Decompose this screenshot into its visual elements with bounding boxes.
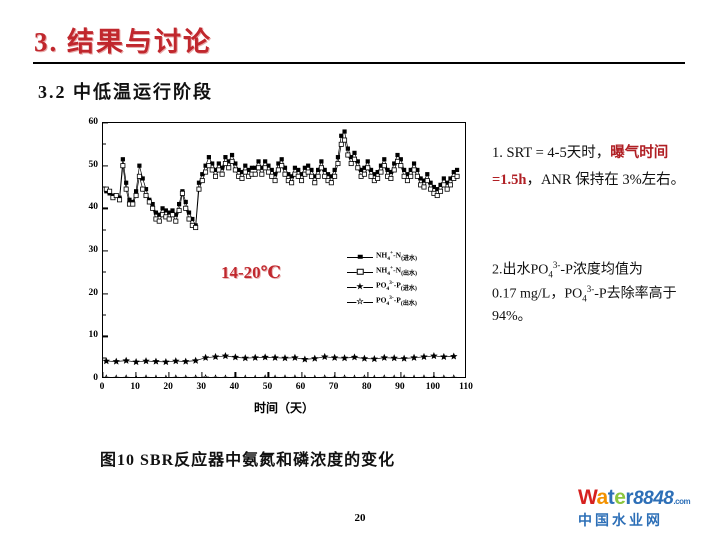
legend-item: ☆ PO43--P(出水) [347,294,459,309]
open-star-icon: ☆ [347,297,373,307]
note-2: 2.出水PO43--P浓度均值为0.17 mg/L，PO43--P去除率高于94… [492,258,707,328]
legend-item: ★ PO43--P(进水) [347,279,459,294]
chart-temperature-annotation: 14-20℃ [221,263,281,283]
y-tick-mark-minor [103,229,106,230]
y-tick-mark-minor [103,272,106,273]
y-tick-label: 0 [93,373,98,383]
x-tick-label: 30 [197,382,207,392]
y-tick-label: 10 [89,330,99,340]
x-tick-mark [367,372,368,377]
y-tick-mark [103,293,108,294]
y-tick-label: 50 [89,160,99,170]
x-tick-mark [433,372,434,377]
y-tick-label: 40 [89,202,99,212]
x-tick-mark [202,372,203,377]
chart-legend: NH4+-N(进水) NH4+-N(出水) ★ PO43--P(进水) [347,249,459,309]
x-tick-label: 80 [362,382,372,392]
x-tick-label: 40 [230,382,240,392]
x-tick-label: 10 [130,382,140,392]
y-tick-mark [103,165,108,166]
y-tick-mark-minor [103,144,106,145]
filled-star-icon: ★ [347,282,373,292]
legend-label: PO43--P(出水) [376,296,417,308]
x-tick-mark [169,372,170,377]
x-tick-label: 20 [163,382,173,392]
y-tick-label: 20 [89,288,99,298]
legend-label: PO43--P(进水) [376,281,417,293]
filled-square-icon [347,252,373,262]
logo-chinese-name: 中国水业网 [578,513,708,530]
note-1-part-b: ，ANR 保持在 3%左右。 [526,172,685,188]
site-logo: Water8848.com 中国水业网 [578,487,708,530]
chart-plot-area: 14-20℃ NH4+-N(进水) NH4+-N(出水) ★ [102,122,466,378]
x-tick-mark [235,372,236,377]
y-tick-mark [103,208,108,209]
x-tick-label: 100 [426,382,440,392]
open-square-icon [347,267,373,277]
x-tick-mark [102,372,103,377]
legend-item: NH4+-N(进水) [347,249,459,264]
x-tick-label: 70 [329,382,339,392]
section-subtitle: 3.2 中低温运行阶段 [38,78,213,104]
x-tick-mark [135,372,136,377]
x-tick-mark [301,372,302,377]
legend-label: NH4+-N(出水) [376,266,417,278]
x-tick-mark [400,372,401,377]
x-tick-label: 90 [395,382,405,392]
y-tick-mark [103,336,108,337]
y-tick-label: 30 [89,245,99,255]
title-divider [33,62,685,64]
y-tick-mark [103,250,108,251]
logo-wordmark: Water8848.com [578,487,708,513]
note-1-part-a: 1. SRT = 4-5天时， [492,145,610,161]
x-tick-mark [268,372,269,377]
chart-x-axis-label: 时间（天） [102,399,466,416]
x-tick-label: 0 [100,382,105,392]
x-tick-mark [334,372,335,377]
legend-label: NH4+-N(进水) [376,251,417,263]
page-title: 3. 结果与讨论 [34,20,212,59]
figure-caption: 图10 SBR反应器中氨氮和磷浓度的变化 [100,446,500,470]
x-tick-label: 110 [459,382,473,392]
y-tick-mark-minor [103,315,106,316]
slide: 3. 结果与讨论 3.2 中低温运行阶段 氮素浓度(mg·L⁻¹) 14-20℃… [0,0,720,540]
x-tick-label: 60 [296,382,306,392]
legend-item: NH4+-N(出水) [347,264,459,279]
chart-figure: 氮素浓度(mg·L⁻¹) 14-20℃ NH4+-N(进水) NH4+-N(出水… [76,118,466,418]
y-tick-label: 60 [89,117,99,127]
x-tick-label: 50 [263,382,273,392]
y-tick-mark-minor [103,357,106,358]
note-1: 1. SRT = 4-5天时，曝气时间=1.5h，ANR 保持在 3%左右。 [492,140,707,194]
y-tick-mark-minor [103,187,106,188]
y-tick-mark [103,122,108,123]
